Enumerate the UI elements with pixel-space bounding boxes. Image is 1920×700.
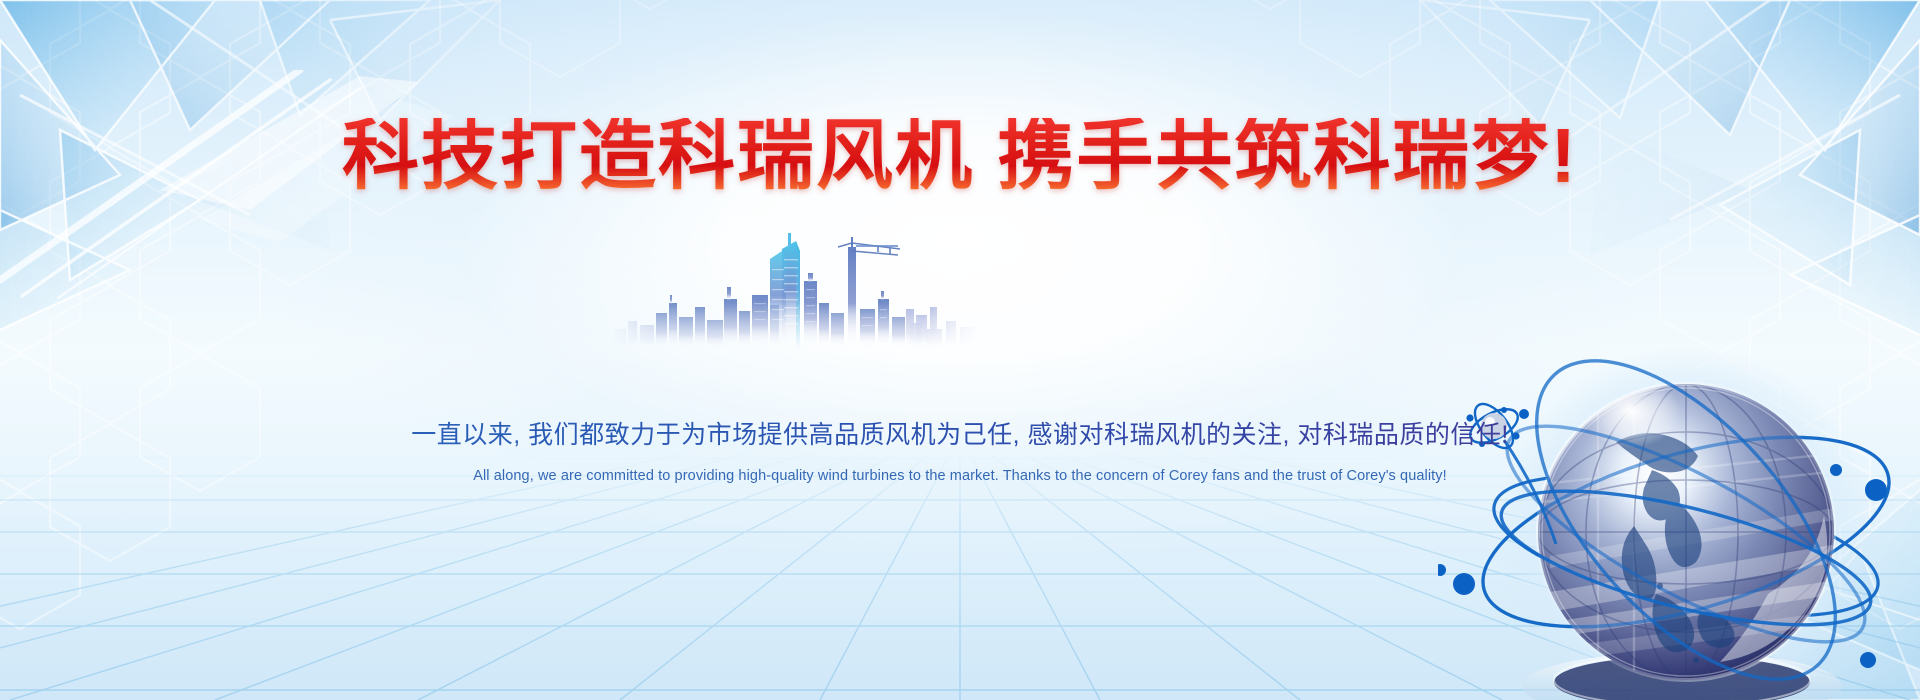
banner-headline: 科技打造科瑞风机 携手共筑科瑞梦! — [0, 118, 1920, 195]
chrome-globe-graphic — [1438, 294, 1920, 700]
promo-banner: 科技打造科瑞风机 携手共筑科瑞梦! 一直以来, 我们都致力于为市场提供高品质风机… — [0, 0, 1920, 700]
banner-subtitle-chinese: 一直以来, 我们都致力于为市场提供高品质风机为己任, 感谢对科瑞风机的关注, 对… — [0, 420, 1920, 451]
city-skyline-graphic — [610, 225, 980, 350]
banner-subtitle-english: All along, we are committed to providing… — [0, 467, 1920, 486]
